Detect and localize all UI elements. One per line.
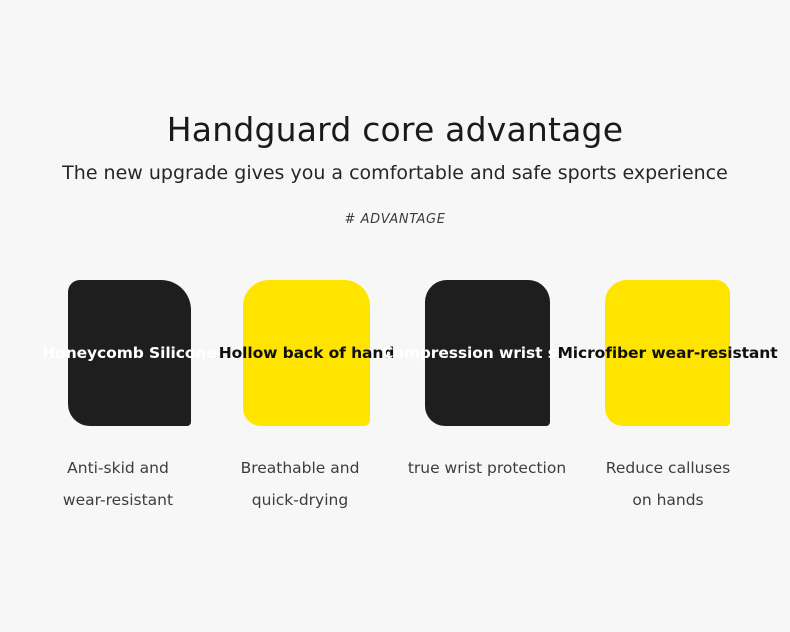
section-kicker: # ADVANTAGE — [0, 212, 790, 227]
feature-card-compression-wrist-strap: Compression wrist strap — [425, 280, 550, 426]
feature-caption-line-2: on hands — [588, 484, 748, 516]
page-subtitle: The new upgrade gives you a comfortable … — [0, 158, 790, 188]
feature-caption-line-1: true wrist protection — [392, 452, 582, 484]
header-block: Handguard core advantage The new upgrade… — [0, 108, 790, 227]
feature-card-label-line-2: wear-resistant — [651, 344, 777, 362]
feature-caption-hollow-back-of-hand: Breathable and quick-drying — [218, 452, 382, 516]
feature-cards-row: Honeycomb Silicone Hollow back of hand C… — [0, 280, 790, 426]
feature-card-microfiber-wear-resistant: Microfiber wear-resistant — [605, 280, 730, 426]
feature-caption-line-1: Reduce calluses — [588, 452, 748, 484]
promo-banner: Handguard core advantage The new upgrade… — [0, 0, 790, 632]
feature-caption-line-1: Anti-skid and — [38, 452, 198, 484]
feature-card-label-line-1: Compression — [382, 344, 494, 362]
feature-caption-honeycomb-silicone: Anti-skid and wear-resistant — [38, 452, 198, 516]
feature-card-label-line-1: Honeycomb — [42, 344, 143, 362]
feature-card-label-line-2: Silicone — [149, 344, 217, 362]
feature-card-label: Microfiber wear-resistant — [557, 339, 777, 368]
feature-caption-line-2: wear-resistant — [38, 484, 198, 516]
feature-captions-row: Anti-skid and wear-resistant Breathable … — [0, 452, 790, 522]
feature-card-honeycomb-silicone: Honeycomb Silicone — [68, 280, 191, 426]
feature-card-hollow-back-of-hand: Hollow back of hand — [243, 280, 370, 426]
feature-card-label: Hollow back of hand — [219, 339, 395, 368]
feature-caption-compression-wrist-strap: true wrist protection — [392, 452, 582, 484]
feature-card-label: Honeycomb Silicone — [42, 339, 216, 368]
feature-card-label-line-1: Microfiber — [557, 344, 646, 362]
feature-card-label-line-1: Hollow back — [219, 344, 324, 362]
feature-caption-microfiber-wear-resistant: Reduce calluses on hands — [588, 452, 748, 516]
feature-caption-line-2: quick-drying — [218, 484, 382, 516]
feature-caption-line-1: Breathable and — [218, 452, 382, 484]
page-title: Handguard core advantage — [0, 108, 790, 152]
